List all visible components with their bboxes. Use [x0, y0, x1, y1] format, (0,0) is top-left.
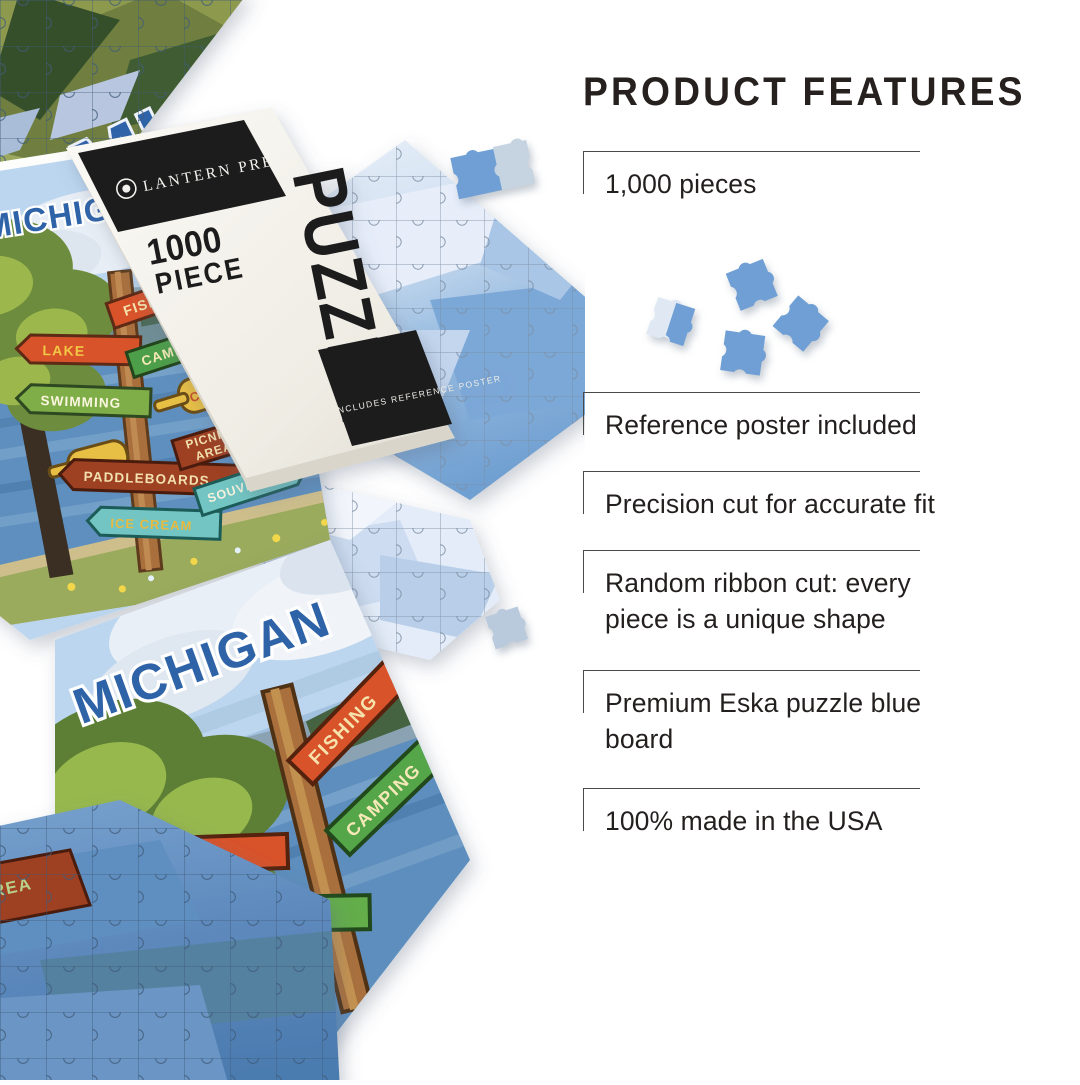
loose-piece-pair-top — [432, 133, 540, 211]
feature-label: 1,000 pieces — [605, 167, 965, 203]
svg-text:ICE CREAM: ICE CREAM — [110, 516, 192, 534]
loose-piece-pale-left — [640, 288, 702, 350]
feature-tick — [583, 788, 584, 831]
feature-tick — [583, 550, 584, 593]
loose-piece-pale-lower — [478, 598, 534, 654]
feature-label: Reference poster included — [605, 408, 965, 444]
feature-tick — [583, 670, 584, 713]
loose-piece-right — [768, 288, 836, 356]
loose-piece-lower-mid — [710, 318, 776, 384]
feature-label: 100% made in the USA — [605, 804, 965, 840]
svg-text:LAKE: LAKE — [42, 342, 85, 359]
svg-text:SWIMMING: SWIMMING — [40, 393, 121, 411]
feature-rule — [583, 151, 920, 152]
feature-rule — [583, 550, 920, 551]
product-feature-graphic: MI — [0, 0, 1080, 1080]
feature-tick — [583, 151, 584, 194]
feature-rule — [583, 471, 920, 472]
feature-label: Precision cut for accurate fit — [605, 487, 965, 523]
feature-rule — [583, 670, 920, 671]
feature-rule — [583, 788, 920, 789]
feature-label: Premium Eska puzzle blue board — [605, 686, 965, 757]
feature-tick — [583, 471, 584, 514]
page-title: PRODUCT FEATURES — [583, 72, 974, 112]
product-features-panel: PRODUCT FEATURES — [583, 72, 1003, 112]
feature-rule — [583, 392, 920, 393]
feature-label: Random ribbon cut: every piece is a uniq… — [605, 566, 965, 637]
feature-tick — [583, 392, 584, 435]
